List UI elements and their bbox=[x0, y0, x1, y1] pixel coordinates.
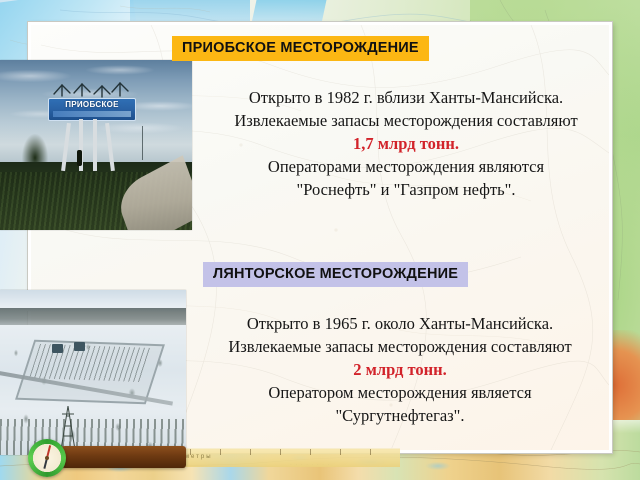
lyantorskoe-photo bbox=[0, 290, 186, 455]
section-text-lyantorskoe: Открыто в 1965 г. около Ханты-Мансийска.… bbox=[190, 312, 610, 427]
monument-billboard: ПРИОБСКОЕ bbox=[48, 98, 136, 121]
map-sea-region-3 bbox=[251, 0, 328, 24]
photo-storage-tank bbox=[52, 344, 63, 353]
text-line: "Роснефть" и "Газпром нефть". bbox=[196, 178, 616, 201]
photo-facility-equipment bbox=[29, 344, 151, 382]
text-line: Открыто в 1965 г. около Ханты-Мансийска. bbox=[190, 312, 610, 335]
photo-storage-tank bbox=[74, 342, 85, 351]
text-line: Извлекаемые запасы месторождения составл… bbox=[196, 109, 616, 132]
compass-icon bbox=[28, 439, 66, 477]
text-line: Открыто в 1982 г. вблизи Ханты-Мансийска… bbox=[196, 86, 616, 109]
text-line: Извлекаемые запасы месторождения составл… bbox=[190, 335, 610, 358]
monument-legs bbox=[62, 119, 120, 171]
monument-sign-text: ПРИОБСКОЕ bbox=[65, 99, 119, 110]
text-line: Операторами месторождения являются bbox=[196, 155, 616, 178]
text-line: Оператором месторождения является bbox=[190, 381, 610, 404]
photo-power-tower bbox=[142, 126, 143, 160]
section-heading-priobskoe: ПРИОБСКОЕ МЕСТОРОЖДЕНИЕ bbox=[172, 36, 429, 61]
priobskoe-photo: ПРИОБСКОЕ bbox=[0, 60, 192, 230]
text-line-accent: 2 млрд тонн. bbox=[190, 358, 610, 381]
monument-sign-subtext bbox=[53, 111, 131, 117]
wooden-bar-decoration bbox=[54, 446, 186, 468]
map-scale-ruler: километры bbox=[150, 448, 400, 467]
text-line-accent: 1,7 млрд тонн. bbox=[196, 132, 616, 155]
section-text-priobskoe: Открыто в 1982 г. вблизи Ханты-Мансийска… bbox=[196, 86, 616, 201]
bird-sculptures-icon bbox=[48, 80, 134, 100]
compass-hub bbox=[45, 456, 49, 460]
section-heading-lyantorskoe: ЛЯНТОРСКОЕ МЕСТОРОЖДЕНИЕ bbox=[203, 262, 468, 287]
slide-canvas: · · · · · · · · bbox=[0, 0, 640, 480]
text-line: "Сургутнефтегаз". bbox=[190, 404, 610, 427]
photo-person bbox=[77, 150, 82, 166]
